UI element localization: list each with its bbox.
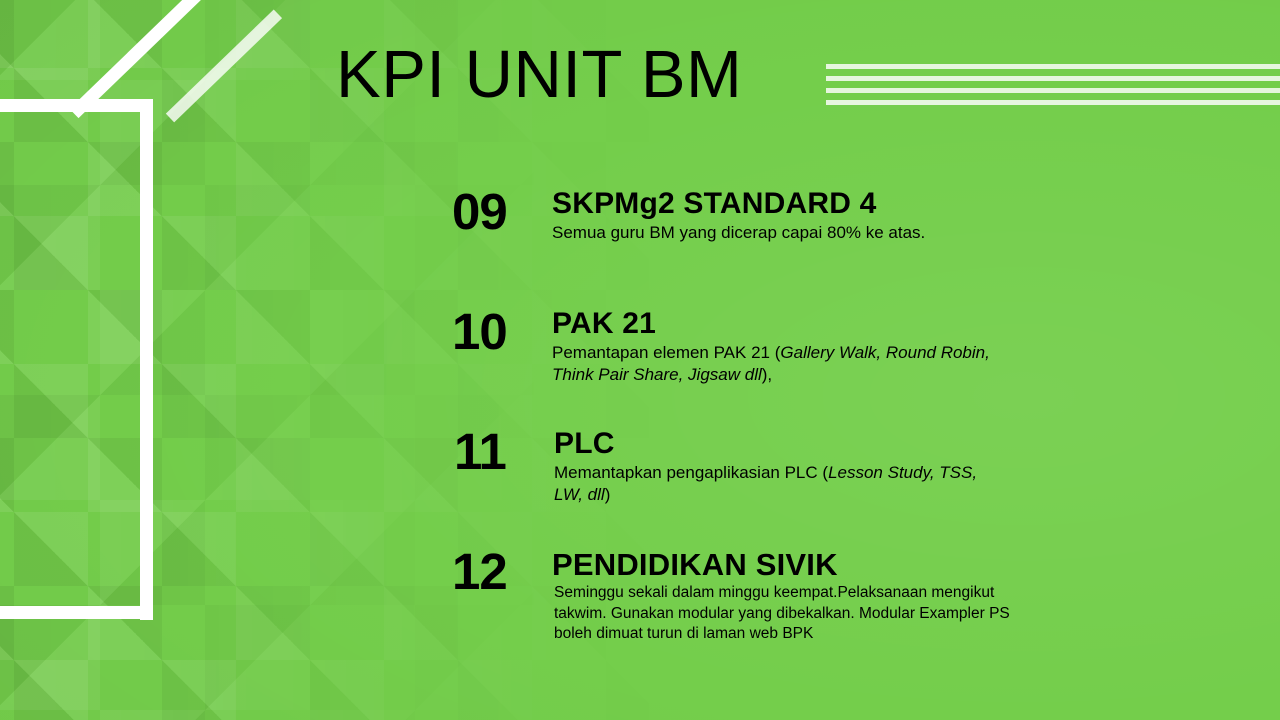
page-title: KPI UNIT BM [336,40,742,110]
kpi-number: 11 [448,426,554,477]
list-item: 11 PLC Memantapkan pengaplikasian PLC (L… [448,426,1048,506]
list-item: 12 PENDIDIKAN SIVIK Seminggu sekali dala… [448,546,1048,645]
kpi-text-block: PENDIDIKAN SIVIK Seminggu sekali dalam m… [552,546,1048,645]
kpi-description: Memantapkan pengaplikasian PLC (Lesson S… [554,462,994,505]
list-item: 09 SKPMg2 STANDARD 4 Semua guru BM yang … [448,186,1048,244]
stripe-2 [826,76,1280,81]
bracket-bottom-bar-icon [0,606,153,619]
kpi-number: 12 [448,546,552,597]
kpi-heading: PLC [554,428,1048,460]
bracket-vertical-bar-icon [140,99,153,620]
slide-canvas: KPI UNIT BM 09 SKPMg2 STANDARD 4 Semua g… [0,0,1280,720]
kpi-description: Seminggu sekali dalam minggu keempat.Pel… [552,583,1016,644]
kpi-text-block: PLC Memantapkan pengaplikasian PLC (Less… [554,426,1048,506]
kpi-description: Pemantapan elemen PAK 21 (Gallery Walk, … [552,342,992,385]
stripe-3 [826,88,1280,93]
kpi-heading: PAK 21 [552,308,1048,340]
header-stripes-icon [826,64,1280,106]
diagonal-bar-outer-icon [166,9,282,122]
stripe-4 [826,100,1280,105]
kpi-text-block: SKPMg2 STANDARD 4 Semua guru BM yang dic… [552,186,1048,244]
kpi-text-block: PAK 21 Pemantapan elemen PAK 21 (Gallery… [552,306,1048,386]
stripe-1 [826,64,1280,69]
list-item: 10 PAK 21 Pemantapan elemen PAK 21 (Gall… [448,306,1048,386]
kpi-heading: SKPMg2 STANDARD 4 [552,188,1048,220]
kpi-number: 09 [448,186,552,237]
kpi-heading: PENDIDIKAN SIVIK [552,548,1048,581]
kpi-description: Semua guru BM yang dicerap capai 80% ke … [552,222,1022,244]
kpi-number: 10 [448,306,552,357]
